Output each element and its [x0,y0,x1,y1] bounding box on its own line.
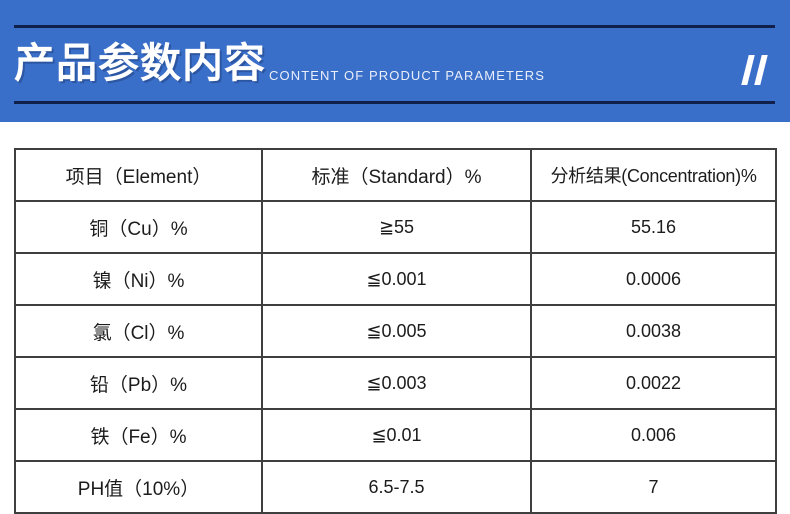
page-subtitle: CONTENT OF PRODUCT PARAMETERS [269,68,545,84]
cell-result: 0.0006 [531,253,776,305]
cell-standard: ≦0.01 [262,409,531,461]
table-row: 铜（Cu）% ≧55 55.16 [15,201,776,253]
cell-element: 氯（Cl）% [15,305,262,357]
cell-element: 铜（Cu）% [15,201,262,253]
table-row: 镍（Ni）% ≦0.001 0.0006 [15,253,776,305]
cell-element: 铅（Pb）% [15,357,262,409]
cell-standard: ≧55 [262,201,531,253]
cell-result: 0.006 [531,409,776,461]
page-banner: 产品参数内容 CONTENT OF PRODUCT PARAMETERS [0,0,790,122]
cell-standard: ≦0.005 [262,305,531,357]
double-slash-icon [741,55,773,87]
slash-bar-1 [741,55,754,85]
column-header-concentration: 分析结果(Concentration)% [531,149,776,201]
cell-standard: ≦0.001 [262,253,531,305]
banner-top-rule [14,25,775,28]
column-header-element: 项目（Element） [15,149,262,201]
cell-standard: 6.5-7.5 [262,461,531,513]
cell-element: 镍（Ni）% [15,253,262,305]
product-parameters-table-wrapper: 项目（Element） 标准（Standard）% 分析结果(Concentra… [14,148,775,514]
table-row: 铁（Fe）% ≦0.01 0.006 [15,409,776,461]
column-header-standard: 标准（Standard）% [262,149,531,201]
slash-bar-2 [754,55,767,85]
table-row: 铅（Pb）% ≦0.003 0.0022 [15,357,776,409]
table-row: 氯（Cl）% ≦0.005 0.0038 [15,305,776,357]
table-row: PH值（10%） 6.5-7.5 7 [15,461,776,513]
cell-result: 7 [531,461,776,513]
product-parameters-table: 项目（Element） 标准（Standard）% 分析结果(Concentra… [14,148,777,514]
table-header-row: 项目（Element） 标准（Standard）% 分析结果(Concentra… [15,149,776,201]
banner-bottom-rule [14,101,775,104]
cell-element: 铁（Fe）% [15,409,262,461]
page-title: 产品参数内容 [14,37,266,89]
cell-result: 55.16 [531,201,776,253]
cell-result: 0.0038 [531,305,776,357]
cell-standard: ≦0.003 [262,357,531,409]
cell-result: 0.0022 [531,357,776,409]
cell-element: PH值（10%） [15,461,262,513]
